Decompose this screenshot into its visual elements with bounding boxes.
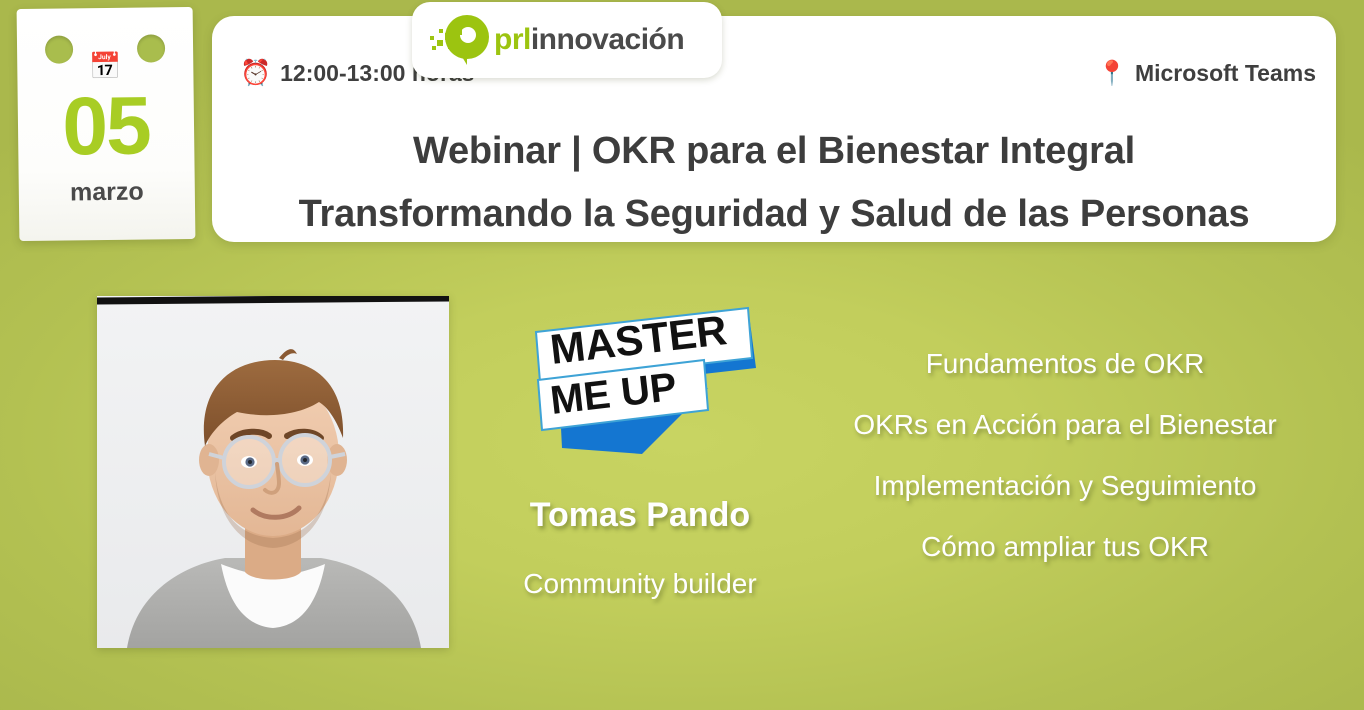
speaker-name: Tomas Pando <box>460 498 820 532</box>
event-location-text: Microsoft Teams <box>1135 60 1316 87</box>
list-item: OKRs en Acción para el Bienestar <box>800 411 1330 439</box>
speaker-photo <box>97 296 449 648</box>
prl-pin-pixels-icon <box>426 13 492 67</box>
calendar-icon: 📅 <box>17 52 193 80</box>
header-card: ⏰ 12:00-13:00 horas 📍 Microsoft Teams We… <box>212 16 1336 242</box>
header-top-row: ⏰ 12:00-13:00 horas 📍 Microsoft Teams <box>212 16 1336 120</box>
calendar-month: marzo <box>19 179 195 206</box>
topics-list: Fundamentos de OKR OKRs en Acción para e… <box>800 350 1330 561</box>
calendar-day: 05 <box>18 85 195 169</box>
speaker-portrait-image <box>97 296 449 648</box>
page-title: Webinar | OKR para el Bienestar Integral… <box>212 120 1336 246</box>
prl-innovacion-logo: prlinnovación <box>412 2 722 78</box>
logo-text-innovacion: innovación <box>531 23 684 56</box>
event-location: 📍 Microsoft Teams <box>1097 60 1316 87</box>
list-item: Cómo ampliar tus OKR <box>800 533 1330 561</box>
webinar-poster: 📅 05 marzo ⏰ 12:00-13:00 horas 📍 Microso… <box>0 0 1364 710</box>
master-me-up-logo-graphic: MASTER ME UP <box>522 296 762 466</box>
alarm-clock-icon: ⏰ <box>240 61 271 86</box>
title-line-1: Webinar | OKR para el Bienestar Integral <box>212 120 1336 183</box>
title-line-2: Transformando la Seguridad y Salud de la… <box>212 183 1336 246</box>
master-me-up-logo: MASTER ME UP <box>522 296 762 466</box>
list-item: Implementación y Seguimiento <box>800 472 1330 500</box>
calendar-card: 📅 05 marzo <box>17 7 196 241</box>
map-pin-icon: 📍 <box>1097 62 1127 86</box>
prl-innovacion-wordmark: prlinnovación <box>494 25 684 55</box>
list-item: Fundamentos de OKR <box>800 350 1330 378</box>
speaker-role: Community builder <box>460 570 820 598</box>
logo-text-prl: prl <box>494 23 531 56</box>
